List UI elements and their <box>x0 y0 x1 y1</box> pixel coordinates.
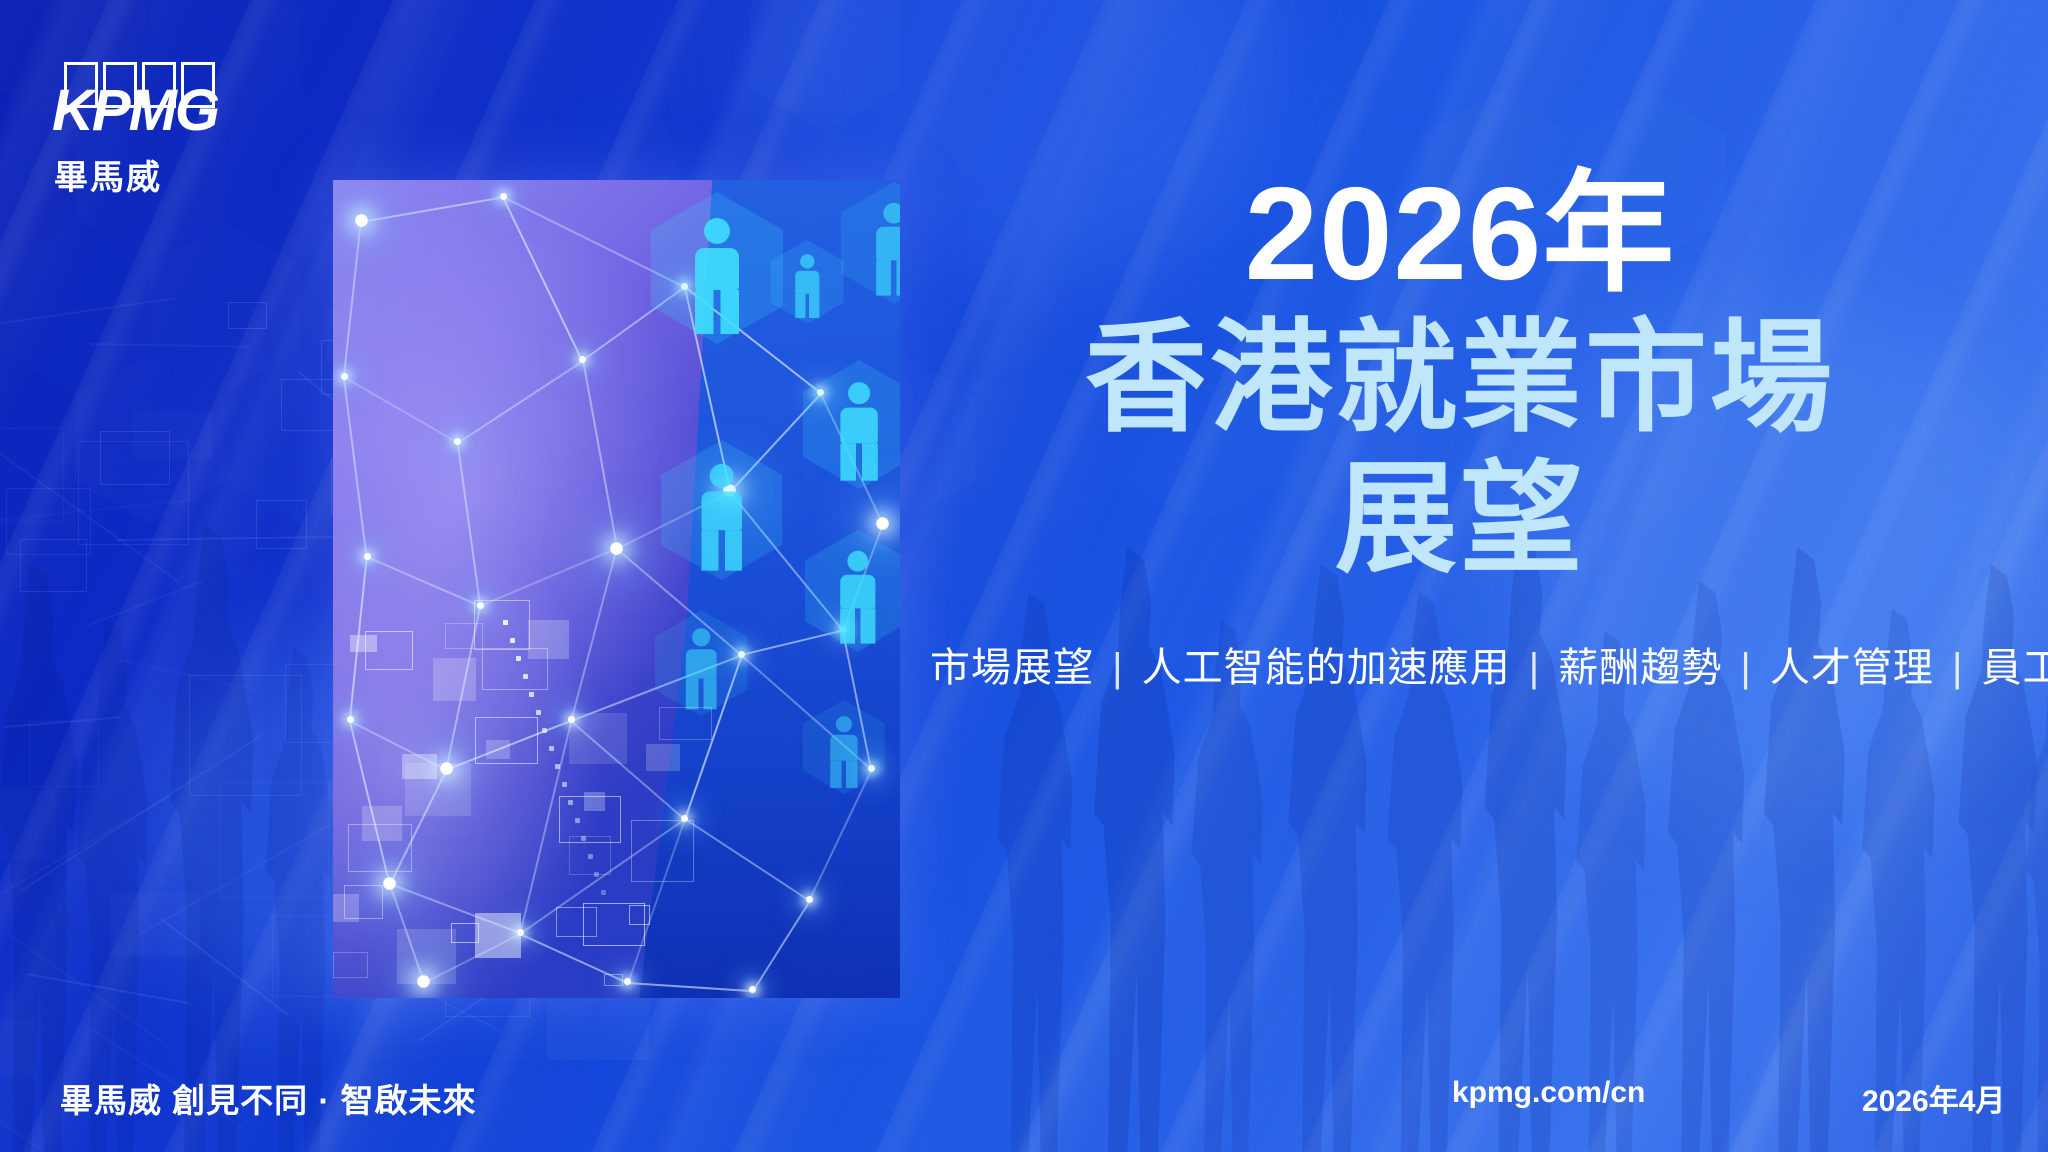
panel-dot <box>581 836 586 841</box>
panel-square <box>445 623 483 649</box>
panel-dot <box>588 854 593 859</box>
panel-dot <box>575 818 580 823</box>
panel-square <box>646 744 680 772</box>
network-node <box>347 716 354 723</box>
title-block: 2026年 香港就業市場 展望 市場展望 | 人工智能的加速應用 | 薪酬趨勢 … <box>930 160 1990 693</box>
panel-square <box>486 740 511 759</box>
tech-square <box>189 675 302 796</box>
panel-square <box>333 894 359 922</box>
network-node <box>610 542 623 555</box>
logo-chinese-name: 畢馬威 <box>54 150 262 199</box>
subtitle-separator: | <box>1722 646 1770 690</box>
panel-dot <box>568 800 573 805</box>
subtitle-topic: 薪酬趨勢 <box>1558 646 1722 690</box>
footer-date: 2026年4月 <box>1862 1076 2005 1120</box>
panel-square <box>569 713 627 764</box>
tech-line <box>90 343 250 347</box>
tech-square <box>29 721 98 787</box>
person-icon <box>840 551 875 644</box>
title-main-line-1: 香港就業市場 <box>930 308 1990 450</box>
person-icon <box>695 218 739 334</box>
subtitle-topic: 人工智能的加速應用 <box>1142 646 1511 690</box>
subtitle-separator: | <box>1511 646 1559 690</box>
panel-square <box>659 707 712 740</box>
tech-square <box>256 500 307 549</box>
panel-square <box>584 792 605 811</box>
panel-square <box>556 907 597 937</box>
tech-line <box>0 297 175 329</box>
panel-square <box>475 913 522 959</box>
panel-dot <box>562 782 567 787</box>
tech-square <box>220 782 329 898</box>
poster-canvas: KPMG 畢馬威 2026年 香港就業市場 展望 市場展望 | 人工智能的加速應… <box>0 0 2048 1152</box>
panel-dot <box>516 656 521 661</box>
title-year: 2026年 <box>930 160 1990 308</box>
person-icon <box>701 464 741 571</box>
panel-dot <box>536 710 541 715</box>
network-node <box>341 373 348 380</box>
panel-dot <box>542 728 547 733</box>
person-icon <box>795 254 819 318</box>
subtitle-topic: 人才管理 <box>1770 646 1934 690</box>
panel-dot <box>523 674 528 679</box>
tech-square <box>228 302 267 329</box>
footer-url[interactable]: kpmg.com/cn <box>1452 1076 1645 1110</box>
panel-square <box>348 824 412 872</box>
panel-square <box>451 923 479 943</box>
title-main-line-2: 展望 <box>930 449 1990 591</box>
panel-dot <box>503 620 508 625</box>
subtitle-topic: 員工福利 <box>1982 646 2048 690</box>
network-node <box>364 553 371 560</box>
panel-square <box>631 820 694 881</box>
kpmg-logo: KPMG 畢馬威 <box>52 62 262 199</box>
panel-square <box>604 974 623 986</box>
footer-bar: 畢馬威 創見不同 · 智啟未來 kpmg.com/cn 2026年4月 <box>0 1042 2048 1152</box>
panel-dot <box>529 692 534 697</box>
network-node <box>500 193 507 200</box>
logo-wordmark: KPMG <box>52 82 262 140</box>
panel-dot <box>594 872 599 877</box>
tech-square <box>100 431 170 484</box>
person-icon <box>840 382 877 481</box>
panel-square <box>365 631 413 670</box>
hero-image-panel <box>333 180 900 998</box>
panel-square <box>433 658 476 701</box>
person-icon <box>876 203 900 296</box>
panel-square <box>397 929 456 984</box>
subtitle-separator: | <box>1094 646 1142 690</box>
tech-square <box>0 788 56 860</box>
person-icon <box>830 716 857 788</box>
tech-line <box>27 973 189 1004</box>
panel-square <box>482 648 547 690</box>
subtitle-topic: 市場展望 <box>930 646 1094 690</box>
panel-dot <box>510 638 515 643</box>
tech-line <box>86 580 202 626</box>
panel-dot <box>549 746 554 751</box>
subtitle-separator: | <box>1934 646 1982 690</box>
panel-square <box>333 952 368 978</box>
person-icon <box>686 628 717 709</box>
subtitle-topics: 市場展望 | 人工智能的加速應用 | 薪酬趨勢 | 人才管理 | 員工福利 <box>930 635 1990 693</box>
footer-tagline: 畢馬威 創見不同 · 智啟未來 <box>60 1074 477 1122</box>
panel-square <box>402 754 437 779</box>
panel-dot <box>601 890 606 895</box>
panel-dot <box>555 764 560 769</box>
